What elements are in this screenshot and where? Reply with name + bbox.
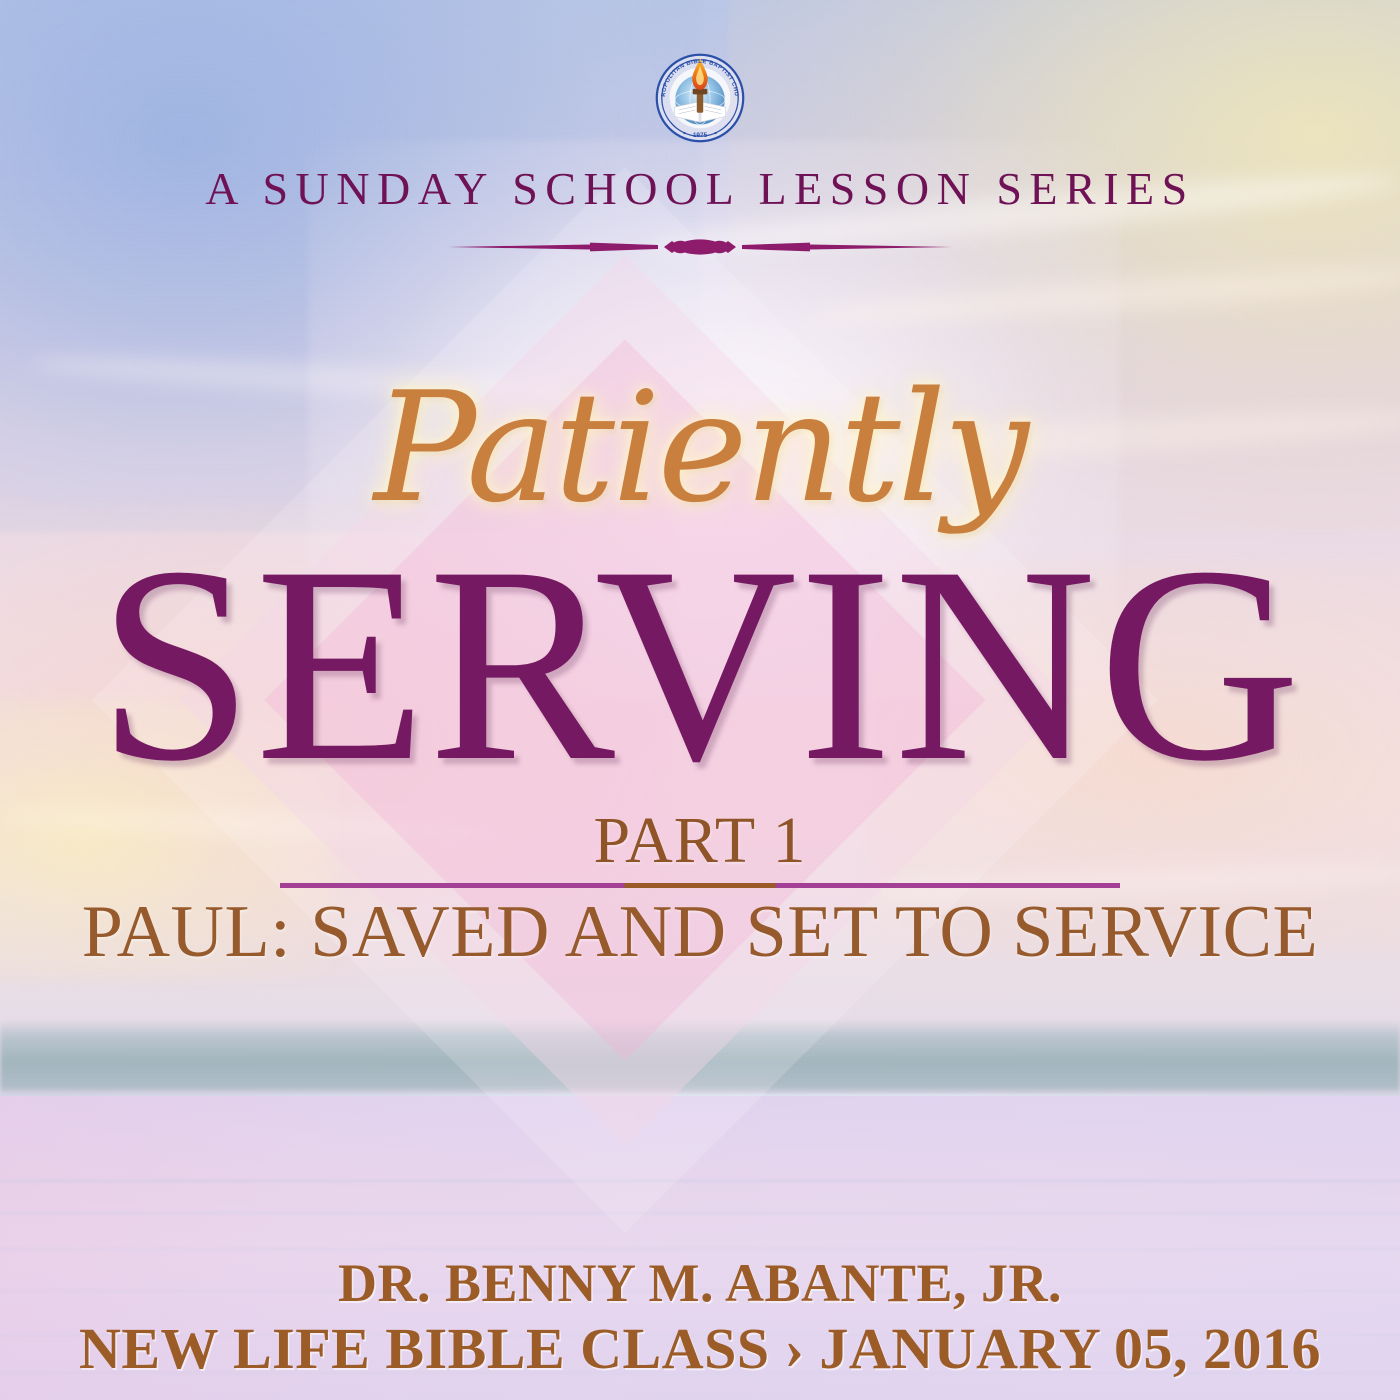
lesson-part-block: PART 1 PAUL: SAVED AND SET TO SERVICE xyxy=(0,806,1400,972)
venue-and-date: NEW LIFE BIBLE CLASS › JANUARY 05, 2016 xyxy=(0,1315,1400,1382)
footer-credits: DR. BENNY M. ABANTE, JR. NEW LIFE BIBLE … xyxy=(0,1252,1400,1382)
lesson-subtitle: PAUL: SAVED AND SET TO SERVICE xyxy=(0,894,1400,972)
ornamental-flourish-divider xyxy=(440,232,960,262)
church-seal-logo: METROPOLITAN BIBLE BAPTIST CHURCH 1975 xyxy=(654,52,746,144)
part-divider-rule xyxy=(280,883,1120,888)
series-label: A SUNDAY SCHOOL LESSON SERIES xyxy=(205,166,1194,212)
speaker-name: DR. BENNY M. ABANTE, JR. xyxy=(0,1252,1400,1315)
sermon-title-card: METROPOLITAN BIBLE BAPTIST CHURCH 1975 A… xyxy=(0,0,1400,1400)
part-label: PART 1 xyxy=(0,806,1400,875)
seal-year-text: 1975 xyxy=(693,132,708,139)
title-script-word: Patiently xyxy=(0,372,1400,524)
title-main-word: SERVING xyxy=(0,524,1400,804)
